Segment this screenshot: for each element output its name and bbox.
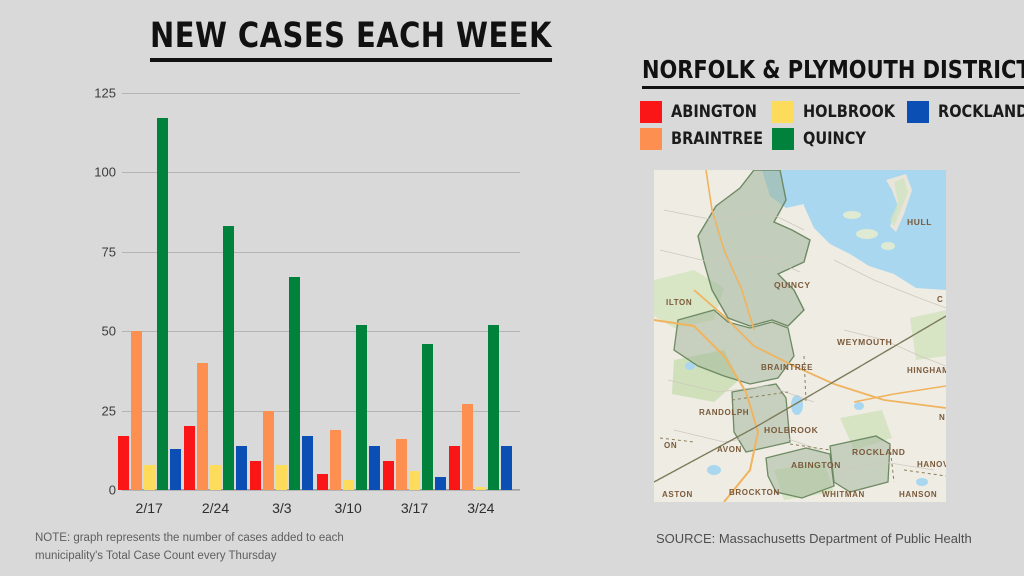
map-label: ABINGTON [791,460,841,470]
x-axis-tick-label: 3/3 [272,500,291,516]
map-label: ROCKLAND [852,447,905,457]
map-label: HANSON [899,490,937,499]
bar-group-2-24 [184,93,247,490]
map-label: AVON [717,445,742,454]
bar-holbrook-2-24[interactable] [210,465,221,490]
legend-label: QUINCY [803,129,866,149]
map-label: HULL [907,217,932,227]
y-axis-tick-label: 125 [76,86,116,101]
map-label: BRAINTREE [761,363,813,372]
y-axis-tick-label: 50 [76,324,116,339]
bar-abington-2-17[interactable] [118,436,129,490]
legend-label: ABINGTON [671,102,757,122]
legend-swatch-braintree [640,128,662,150]
map-label: ILTON [666,298,692,307]
page-title: NEW CASES EACH WEEK [150,18,552,62]
x-axis-tick-label: 3/24 [467,500,494,516]
x-axis-tick-label: 3/10 [335,500,362,516]
bar-holbrook-3-24[interactable] [475,487,486,490]
bar-group-3-17 [383,93,446,490]
legend-item-rockland: ROCKLAND [907,100,1012,124]
bar-rockland-3-24[interactable] [501,446,512,490]
bar-holbrook-2-17[interactable] [144,465,155,490]
chart-note: NOTE: graph represents the number of cas… [35,530,355,566]
bar-braintree-3-24[interactable] [462,404,473,490]
bar-braintree-2-17[interactable] [131,331,142,490]
bar-group-3-3 [250,93,313,490]
legend-swatch-abington [640,101,662,123]
bar-quincy-3-24[interactable] [488,325,499,490]
legend-label: BRAINTREE [671,129,763,149]
legend-item-braintree: BRAINTREE [640,127,772,151]
map-label: HOLBROOK [764,425,819,435]
legend-item-holbrook: HOLBROOK [772,100,907,124]
map-label: ASTON [662,490,693,499]
bar-braintree-2-24[interactable] [197,363,208,490]
bar-abington-3-3[interactable] [250,461,261,490]
map-source-caption: SOURCE: Massachusetts Department of Publ… [656,531,972,546]
bar-quincy-2-17[interactable] [157,118,168,490]
bar-rockland-3-10[interactable] [369,446,380,490]
chart-legend: ABINGTONHOLBROOKROCKLANDBRAINTREEQUINCY [640,100,1012,154]
map-label: C [937,295,943,304]
map-label: ON [664,441,677,450]
map-label: N [939,413,945,422]
map-label: HINGHAM [907,366,946,375]
legend-label: HOLBROOK [803,102,895,122]
bar-group-3-10 [317,93,380,490]
district-title: NORFOLK & PLYMOUTH DISTRICT [642,55,1024,89]
chart-panel: NEW CASES EACH WEEK 0255075100125 NOTE: … [0,0,600,576]
bar-holbrook-3-10[interactable] [343,480,354,490]
legend-item-quincy: QUINCY [772,127,907,151]
bar-quincy-3-3[interactable] [289,277,300,490]
bar-abington-3-17[interactable] [383,461,394,490]
map-label: WHITMAN [822,490,865,499]
bar-abington-3-24[interactable] [449,446,460,490]
map-panel: NORFOLK & PLYMOUTH DISTRICT ABINGTONHOLB… [600,0,1024,576]
bar-holbrook-3-17[interactable] [409,471,420,490]
bar-group-3-24 [449,93,512,490]
y-axis-tick-label: 75 [76,244,116,259]
y-axis-tick-label: 100 [76,165,116,180]
y-axis-tick-label: 0 [76,483,116,498]
bar-rockland-2-17[interactable] [170,449,181,490]
legend-item-abington: ABINGTON [640,100,772,124]
legend-swatch-rockland [907,101,929,123]
map-label: BROCKTON [729,488,780,497]
bar-braintree-3-10[interactable] [330,430,341,490]
legend-swatch-quincy [772,128,794,150]
bar-chart-plot-area [122,93,520,490]
bar-quincy-3-10[interactable] [356,325,367,490]
x-axis-tick-label: 2/24 [202,500,229,516]
gridline [122,490,520,491]
y-axis-ticks: 0255075100125 [72,93,116,490]
bar-quincy-2-24[interactable] [223,226,234,490]
bar-braintree-3-3[interactable] [263,411,274,490]
bar-quincy-3-17[interactable] [422,344,433,490]
bar-abington-3-10[interactable] [317,474,328,490]
legend-swatch-holbrook [772,101,794,123]
bar-rockland-3-3[interactable] [302,436,313,490]
district-map[interactable]: QUINCYHULLWEYMOUTHHINGHAMBRAINTREEILTONR… [654,170,946,502]
bar-abington-2-24[interactable] [184,426,195,490]
x-axis-tick-label: 3/17 [401,500,428,516]
legend-label: ROCKLAND [938,102,1024,122]
bar-braintree-3-17[interactable] [396,439,407,490]
map-label: RANDOLPH [699,408,749,417]
x-axis-tick-label: 2/17 [136,500,163,516]
map-label: HANOVER [917,460,946,469]
bar-rockland-2-24[interactable] [236,446,247,490]
bar-rockland-3-17[interactable] [435,477,446,490]
map-label: QUINCY [774,280,811,290]
bar-group-2-17 [118,93,181,490]
map-label: WEYMOUTH [837,337,892,347]
y-axis-tick-label: 25 [76,403,116,418]
bar-holbrook-3-3[interactable] [276,465,287,490]
